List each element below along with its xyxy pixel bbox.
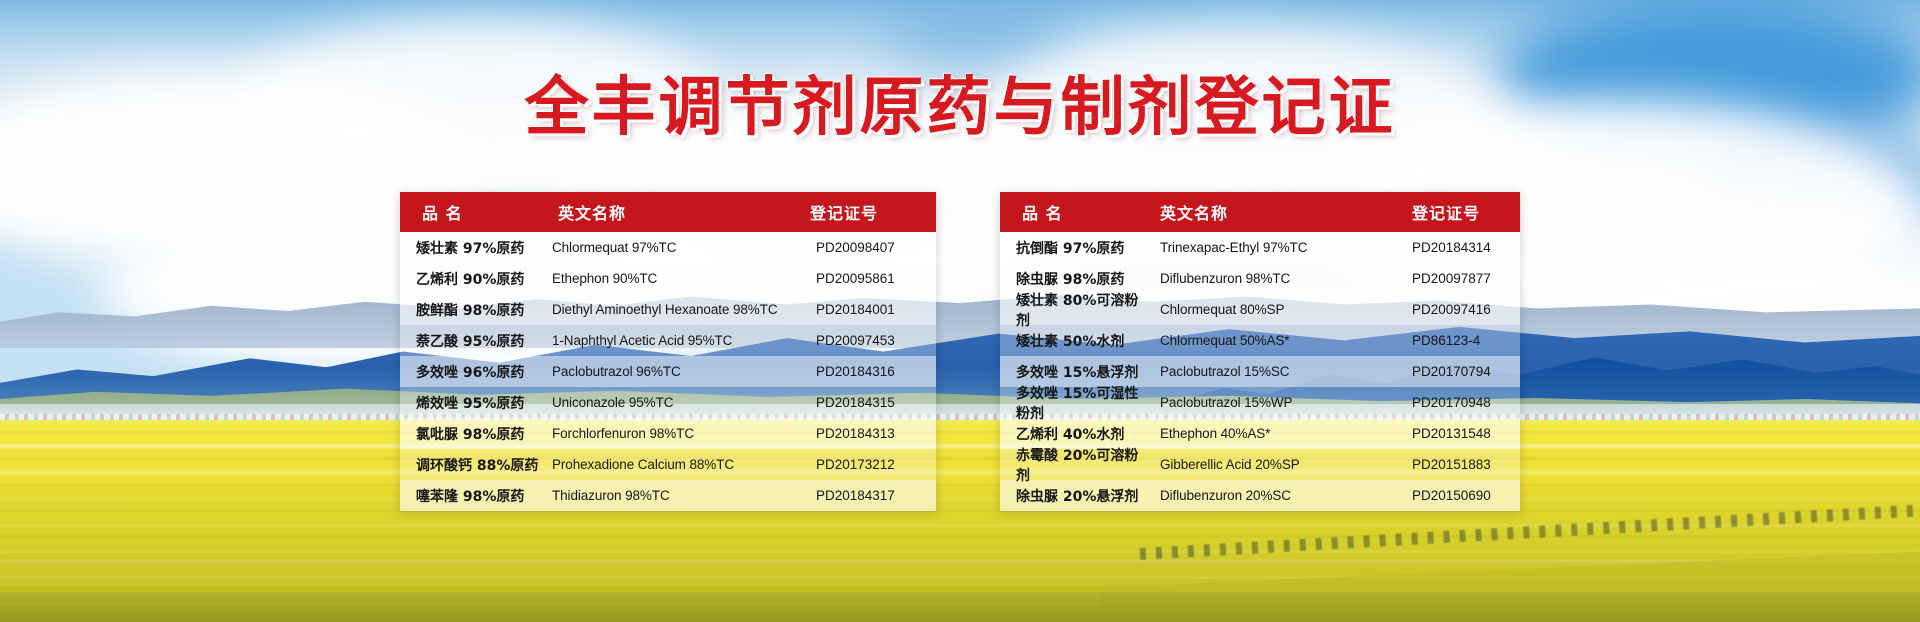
table-row: 胺鲜酯 98%原药 Diethyl Aminoethyl Hexanoate 9…: [400, 294, 936, 325]
cell-english-name: Prohexadione Calcium 88%TC: [548, 457, 816, 472]
cell-product-name: 除虫脲 98%原药: [1000, 269, 1152, 289]
table-row: 矮壮素 97%原药 Chlormequat 97%TC PD20098407: [400, 232, 936, 263]
cell-product-name: 调环酸钙 88%原药: [400, 455, 548, 475]
table-row: 噻苯隆 98%原药 Thidiazuron 98%TC PD20184317: [400, 480, 936, 511]
table-row: 矮壮素 50%水剂 Chlormequat 50%AS* PD86123-4: [1000, 325, 1520, 356]
column-header-product-name: 品 名: [400, 200, 548, 224]
cell-registration-no: PD20131548: [1412, 426, 1520, 441]
cell-english-name: Chlormequat 97%TC: [548, 240, 816, 255]
cell-product-name: 萘乙酸 95%原药: [400, 331, 548, 351]
cell-product-name: 多效唑 15%悬浮剂: [1000, 362, 1152, 382]
registration-table-right: 品 名 英文名称 登记证号 抗倒酯 97%原药 Trinexapac-Ethyl…: [1000, 192, 1520, 511]
table-row: 乙烯利 90%原药 Ethephon 90%TC PD20095861: [400, 263, 936, 294]
cell-english-name: Thidiazuron 98%TC: [548, 488, 816, 503]
cell-product-name: 抗倒酯 97%原药: [1000, 238, 1152, 258]
cell-english-name: Ethephon 40%AS*: [1152, 426, 1412, 441]
cell-registration-no: PD20170794: [1412, 364, 1520, 379]
cell-product-name: 除虫脲 20%悬浮剂: [1000, 486, 1152, 506]
cell-registration-no: PD20173212: [816, 457, 936, 472]
cell-registration-no: PD20095861: [816, 271, 936, 286]
cell-registration-no: PD20098407: [816, 240, 936, 255]
table-row: 调环酸钙 88%原药 Prohexadione Calcium 88%TC PD…: [400, 449, 936, 480]
cell-english-name: Paclobutrazol 96%TC: [548, 364, 816, 379]
table-row: 多效唑 15%可湿性粉剂 Paclobutrazol 15%WP PD20170…: [1000, 387, 1520, 418]
column-header-english-name: 英文名称: [548, 200, 810, 224]
cell-registration-no: PD20184313: [816, 426, 936, 441]
cell-registration-no: PD86123-4: [1412, 333, 1520, 348]
cell-english-name: Diethyl Aminoethyl Hexanoate 98%TC: [548, 302, 816, 317]
cell-product-name: 氯吡脲 98%原药: [400, 424, 548, 444]
field-road: [0, 470, 1920, 473]
cell-english-name: Gibberellic Acid 20%SP: [1152, 457, 1412, 472]
cell-product-name: 矮壮素 97%原药: [400, 238, 548, 258]
cell-product-name: 矮壮素 50%水剂: [1000, 331, 1152, 351]
cell-english-name: Trinexapac-Ethyl 97%TC: [1152, 240, 1412, 255]
table-row: 矮壮素 80%可溶粉剂 Chlormequat 80%SP PD20097416: [1000, 294, 1520, 325]
cell-english-name: Chlormequat 80%SP: [1152, 302, 1412, 317]
table-body-left: 矮壮素 97%原药 Chlormequat 97%TC PD20098407 乙…: [400, 232, 936, 511]
column-header-english-name: 英文名称: [1152, 200, 1412, 224]
table-row: 烯效唑 95%原药 Uniconazole 95%TC PD20184315: [400, 387, 936, 418]
cell-product-name: 乙烯利 90%原药: [400, 269, 548, 289]
cell-registration-no: PD20184316: [816, 364, 936, 379]
cell-english-name: Uniconazole 95%TC: [548, 395, 816, 410]
table-row: 抗倒酯 97%原药 Trinexapac-Ethyl 97%TC PD20184…: [1000, 232, 1520, 263]
cell-registration-no: PD20170948: [1412, 395, 1520, 410]
table-header-row-right: 品 名 英文名称 登记证号: [1000, 192, 1520, 232]
cell-english-name: Ethephon 90%TC: [548, 271, 816, 286]
cell-english-name: Paclobutrazol 15%WP: [1152, 395, 1412, 410]
table-header-row-left: 品 名 英文名称 登记证号: [400, 192, 936, 232]
cell-registration-no: PD20184314: [1412, 240, 1520, 255]
cell-product-name: 乙烯利 40%水剂: [1000, 424, 1152, 444]
field-road: [0, 444, 1920, 448]
cell-english-name: Diflubenzuron 98%TC: [1152, 271, 1412, 286]
cell-product-name: 胺鲜酯 98%原药: [400, 300, 548, 320]
table-row: 赤霉酸 20%可溶粉剂 Gibberellic Acid 20%SP PD201…: [1000, 449, 1520, 480]
table-row: 除虫脲 20%悬浮剂 Diflubenzuron 20%SC PD2015069…: [1000, 480, 1520, 511]
cell-registration-no: PD20184315: [816, 395, 936, 410]
cell-registration-no: PD20150690: [1412, 488, 1520, 503]
foreground-green-band: [0, 592, 1920, 622]
cell-registration-no: PD20184001: [816, 302, 936, 317]
field-road: [0, 560, 1920, 563]
table-body-right: 抗倒酯 97%原药 Trinexapac-Ethyl 97%TC PD20184…: [1000, 232, 1520, 511]
cell-product-name: 多效唑 15%可湿性粉剂: [1000, 383, 1152, 423]
cell-product-name: 多效唑 96%原药: [400, 362, 548, 382]
page-title: 全丰调节剂原药与制剂登记证: [0, 56, 1920, 148]
banner-stage: 全丰调节剂原药与制剂登记证 品 名 英文名称 登记证号 矮壮素 97%原药 Ch…: [0, 0, 1920, 622]
cell-registration-no: PD20097877: [1412, 271, 1520, 286]
cell-registration-no: PD20184317: [816, 488, 936, 503]
cell-product-name: 矮壮素 80%可溶粉剂: [1000, 290, 1152, 330]
table-row: 多效唑 96%原药 Paclobutrazol 96%TC PD20184316: [400, 356, 936, 387]
cell-registration-no: PD20097416: [1412, 302, 1520, 317]
cell-english-name: Chlormequat 50%AS*: [1152, 333, 1412, 348]
cell-registration-no: PD20151883: [1412, 457, 1520, 472]
cell-product-name: 赤霉酸 20%可溶粉剂: [1000, 445, 1152, 485]
cell-english-name: 1-Naphthyl Acetic Acid 95%TC: [548, 333, 816, 348]
cell-english-name: Diflubenzuron 20%SC: [1152, 488, 1412, 503]
cell-english-name: Paclobutrazol 15%SC: [1152, 364, 1412, 379]
cell-english-name: Forchlorfenuron 98%TC: [548, 426, 816, 441]
table-row: 氯吡脲 98%原药 Forchlorfenuron 98%TC PD201843…: [400, 418, 936, 449]
cell-product-name: 烯效唑 95%原药: [400, 393, 548, 413]
cell-product-name: 噻苯隆 98%原药: [400, 486, 548, 506]
column-header-registration-no: 登记证号: [1412, 200, 1520, 224]
column-header-product-name: 品 名: [1000, 200, 1152, 224]
cell-registration-no: PD20097453: [816, 333, 936, 348]
table-row: 萘乙酸 95%原药 1-Naphthyl Acetic Acid 95%TC P…: [400, 325, 936, 356]
column-header-registration-no: 登记证号: [810, 200, 936, 224]
registration-table-left: 品 名 英文名称 登记证号 矮壮素 97%原药 Chlormequat 97%T…: [400, 192, 936, 511]
